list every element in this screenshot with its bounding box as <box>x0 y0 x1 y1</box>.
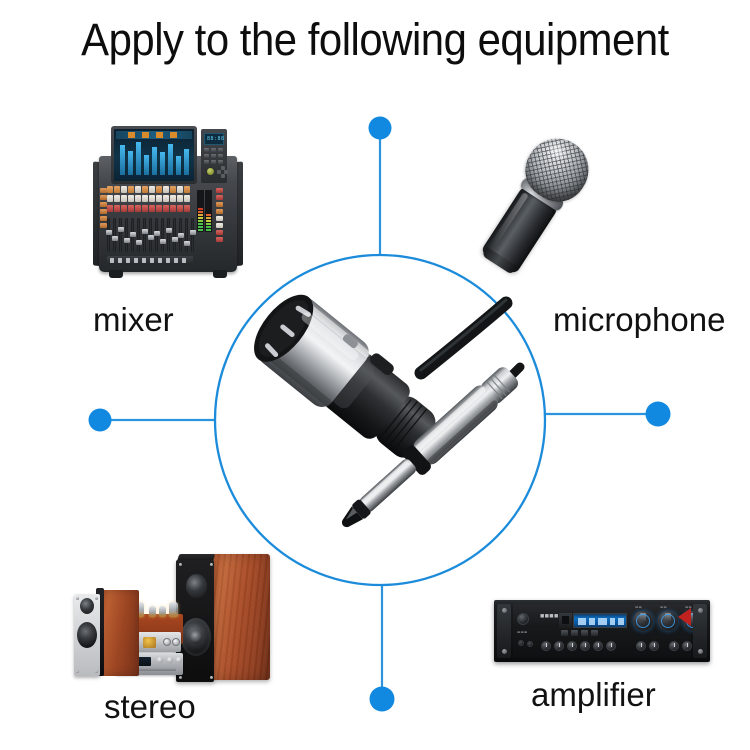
speaker-right-tweeter <box>186 574 207 598</box>
amplifier-small-knob-4 <box>580 641 590 651</box>
equipment-image-amplifier: ■■■■ ▬▬▬ ▬▬ ▬▬ ▬▬ <box>494 600 710 662</box>
equipment-label-stereo: stereo <box>104 689 196 725</box>
speaker-right-woofer <box>181 618 211 656</box>
amplifier-rack-ear-left <box>497 604 511 658</box>
mixer-button-row-2 <box>107 195 195 202</box>
mixer-fader-bank <box>107 218 193 254</box>
cd-player-knob-1 <box>157 657 163 663</box>
speaker-left-cabinet <box>99 590 139 676</box>
amplifier-small-knob-3 <box>567 641 577 651</box>
mixer-foot-left <box>109 270 123 278</box>
mixer-foot-right <box>213 270 227 278</box>
amplifier-small-knob-6 <box>606 641 616 651</box>
amplifier-input-knob <box>517 613 529 625</box>
vacuum-tube-4 <box>159 606 166 617</box>
amplifier-mic-jack <box>518 640 524 646</box>
equipment-image-stereo <box>68 552 273 690</box>
amplifier-button-2 <box>571 630 578 636</box>
cd-player-knob-2 <box>167 657 173 663</box>
mixer-level-meter-right <box>205 190 212 232</box>
mixer-button-row-3 <box>107 205 195 212</box>
amplifier-model-text: ▬▬▬ <box>517 630 528 634</box>
mixer-left-button-column <box>100 188 107 234</box>
amplifier-small-knob-1 <box>541 641 551 651</box>
amplifier-small-knob-2 <box>554 641 564 651</box>
amplifier-front-panel: ■■■■ ▬▬▬ ▬▬ ▬▬ ▬▬ <box>513 604 691 658</box>
vacuum-tube-5 <box>169 602 178 617</box>
mixer-jog-knob <box>206 167 215 176</box>
amplifier-bass-knob <box>658 611 678 631</box>
tube-amp-knob-3 <box>172 638 180 646</box>
amplifier-small-knob-10 <box>682 641 692 651</box>
equipment-label-mixer: mixer <box>93 302 174 338</box>
amplifier-volume-knob <box>633 611 653 631</box>
amplifier-display <box>573 613 627 628</box>
mixer-button-row-1 <box>107 186 195 193</box>
vacuum-tube-3 <box>149 606 156 617</box>
amplifier-rack-ear-right <box>693 604 707 658</box>
mixer-dpad <box>217 166 228 178</box>
amplifier-small-knob-5 <box>593 641 603 651</box>
amplifier-usb-port <box>527 641 533 647</box>
mixer-button-grid <box>204 148 225 164</box>
speaker-left-tweeter <box>80 598 94 614</box>
node-dot-top <box>369 117 392 140</box>
cable-upper <box>421 300 506 373</box>
mixer-screen-housing <box>111 126 197 184</box>
amplifier-card-slot <box>559 613 572 628</box>
tube-amp-knob-2 <box>163 638 171 646</box>
mixer-lcd: 88:88 <box>204 133 224 145</box>
mixer-screen-topbar <box>116 131 192 139</box>
amplifier-button-1 <box>561 630 568 636</box>
amplifier-small-knob-8 <box>649 641 659 651</box>
equipment-image-microphone <box>512 130 657 280</box>
mixer-bottom-strip <box>107 256 193 265</box>
amplifier-button-3 <box>581 630 588 636</box>
equipment-label-amplifier: amplifier <box>531 677 656 713</box>
amplifier-small-knob-9 <box>669 641 679 651</box>
amplifier-badge <box>143 637 156 648</box>
mixer-touchscreen <box>114 129 194 181</box>
amplifier-red-accent <box>678 608 691 626</box>
node-dot-left <box>89 409 112 432</box>
equipment-image-mixer: 88:88 <box>93 126 243 282</box>
amplifier-brand-text: ■■■■ <box>540 614 559 619</box>
plug-shaft <box>358 457 418 514</box>
mixer-lcd-text: 88:88 <box>207 136 225 142</box>
mixer-level-meter-left <box>197 190 204 232</box>
amplifier-small-knob-7 <box>636 641 646 651</box>
node-dot-bottom <box>370 687 395 712</box>
mixer-right-button-column <box>216 188 223 248</box>
speaker-left-woofer <box>77 622 97 648</box>
speaker-right-cabinet <box>212 554 270 680</box>
cd-player-knob-3 <box>176 657 182 663</box>
node-dot-right <box>646 402 671 427</box>
product-cable-xlr-to-quarter-inch <box>216 255 546 587</box>
infographic-page: Apply to the following equipment <box>0 0 750 750</box>
amplifier-knob-label-1: ▬▬ <box>635 605 642 609</box>
equipment-label-microphone: microphone <box>553 302 725 338</box>
amplifier-button-4 <box>591 630 598 636</box>
amplifier-knob-label-2: ▬▬ <box>660 605 667 609</box>
